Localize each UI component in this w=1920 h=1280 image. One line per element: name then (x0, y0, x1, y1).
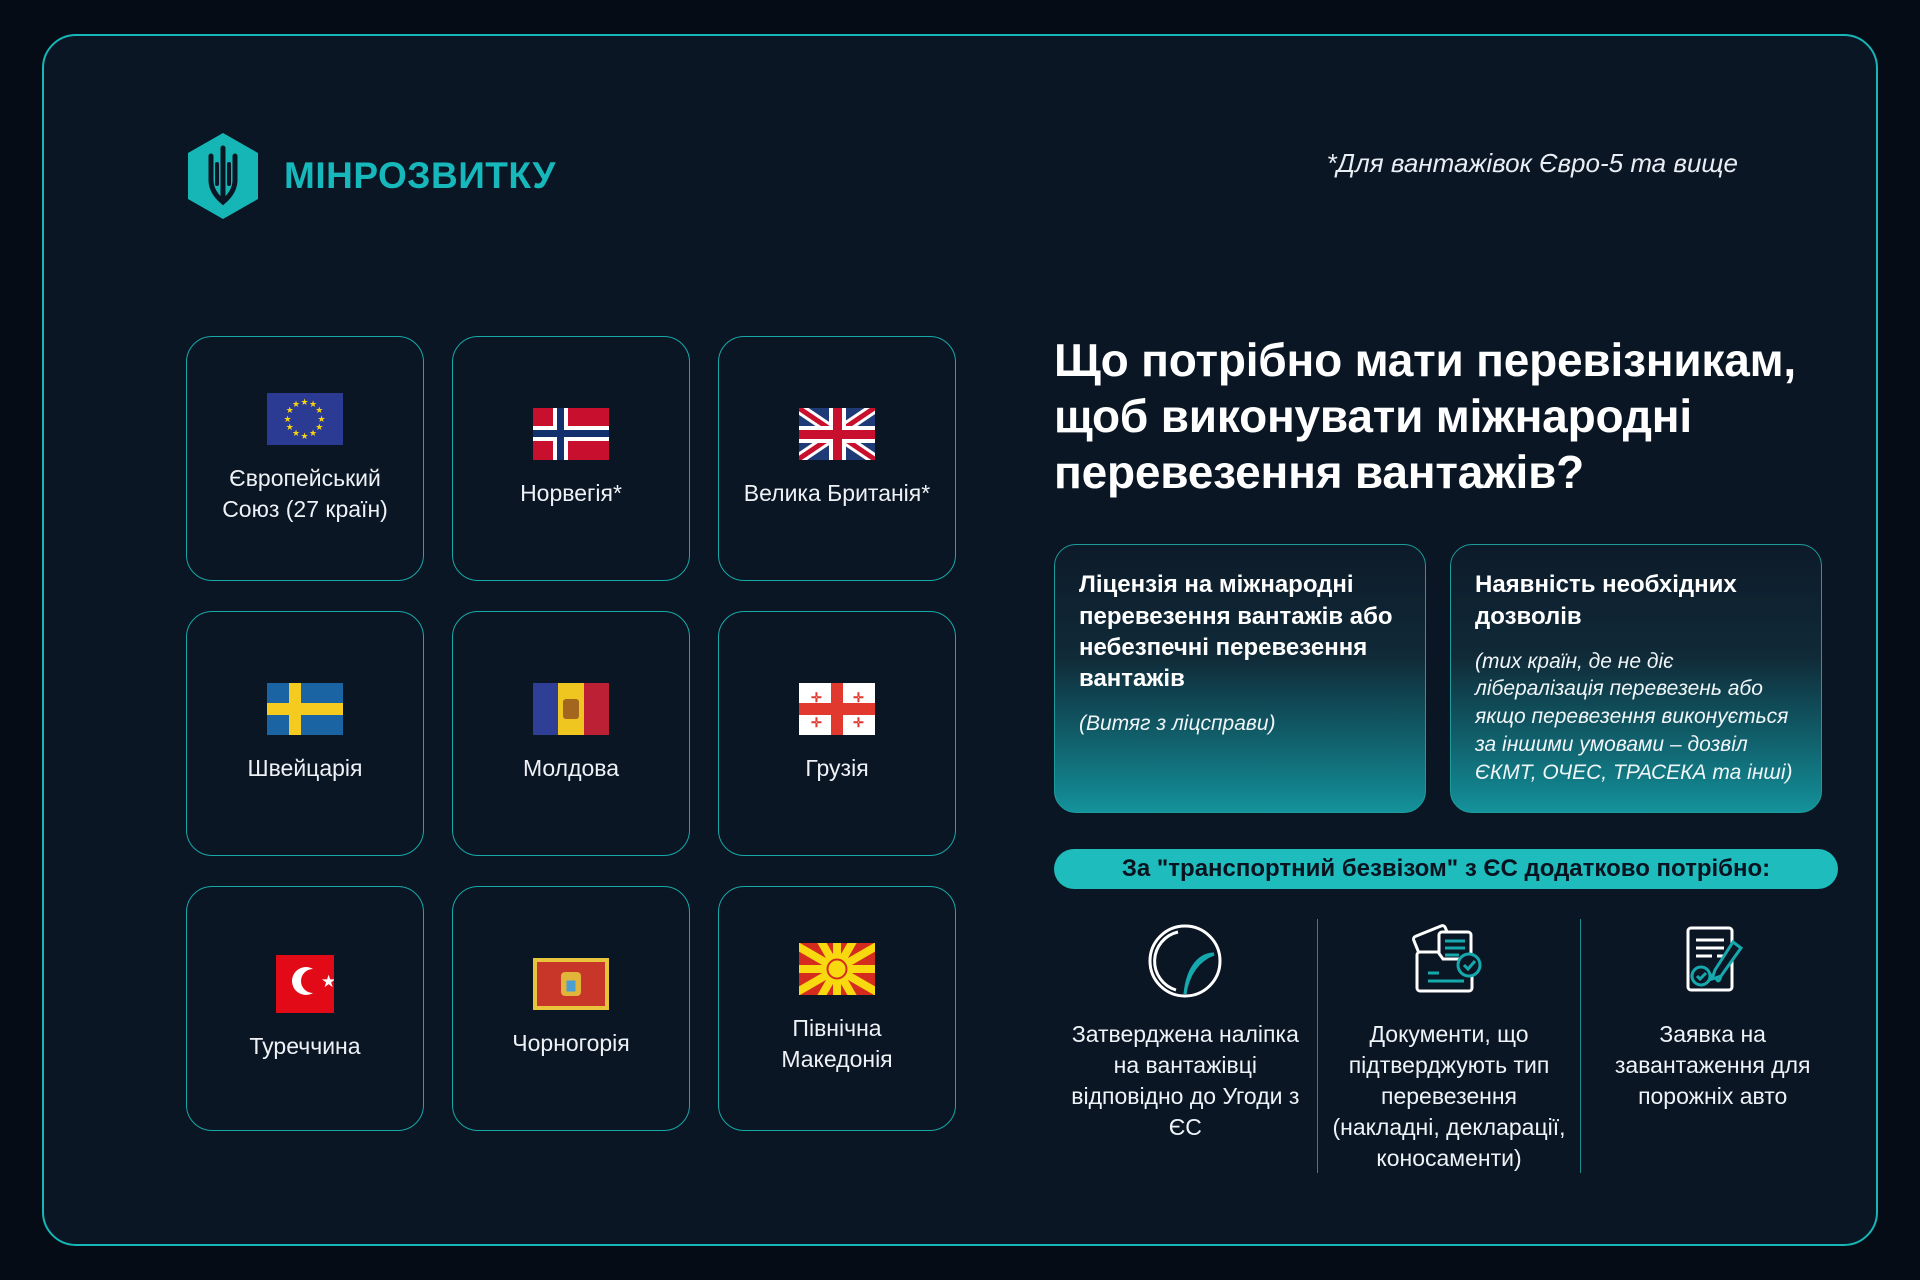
country-label: Чорногорія (512, 1028, 629, 1058)
requirements-row: Ліцензія на міжнародні перевезення ванта… (1054, 544, 1864, 813)
brand-logo: МІНРОЗВИТКУ (184, 132, 556, 220)
country-card[interactable]: Швейцарія (186, 611, 424, 856)
flag-moldova-icon (533, 683, 609, 735)
country-label: Велика Британія* (744, 478, 930, 508)
country-card[interactable]: ★ Туреччина (186, 886, 424, 1131)
visa-free-banner-label: За "транспортний безвізом" з ЄС додатков… (1122, 855, 1770, 883)
country-card[interactable]: Норвегія* (452, 336, 690, 581)
country-label: Норвегія* (520, 478, 622, 508)
country-label: Грузія (805, 753, 868, 783)
requirement-note: (Витяг з ліцсправи) (1079, 710, 1401, 738)
step-item: Заявка на завантаження для порожніх авто (1580, 919, 1844, 1173)
signed-application-pen-icon (1672, 919, 1754, 1003)
requirement-title: Наявність необхідних дозволів (1475, 569, 1797, 631)
country-card[interactable]: Велика Британія* (718, 336, 956, 581)
step-label: Затверджена наліпка на вантажівці відпов… (1068, 1019, 1303, 1142)
flag-sweden-icon (267, 683, 343, 735)
euro5-note: *Для вантажівок Євро-5 та вище (1327, 148, 1738, 179)
flag-turkey-icon: ★ (276, 955, 334, 1013)
country-label: Туреччина (249, 1031, 360, 1061)
flag-north-macedonia-icon (799, 943, 875, 995)
step-label: Заявка на завантаження для порожніх авто (1595, 1019, 1830, 1111)
country-card[interactable]: Північна Македонія (718, 886, 956, 1131)
steps-row: Затверджена наліпка на вантажівці відпов… (1054, 919, 1844, 1173)
requirement-card: Ліцензія на міжнародні перевезення ванта… (1054, 544, 1426, 813)
country-label: Молдова (523, 753, 619, 783)
sticker-label-icon (1144, 919, 1226, 1003)
country-label: Швейцарія (248, 753, 363, 783)
step-item: Документи, що підтверджують тип перевезе… (1317, 919, 1581, 1173)
content-frame: МІНРОЗВИТКУ *Для вантажівок Євро-5 та ви… (42, 34, 1878, 1246)
page-title: Що потрібно мати перевізникам, щоб викон… (1054, 332, 1864, 500)
countries-grid: ★★★★★★★★★★★★ Європейський Союз (27 країн… (186, 336, 956, 1131)
main-column: Що потрібно мати перевізникам, щоб викон… (1054, 332, 1864, 1173)
country-label: Північна Македонія (737, 1013, 937, 1074)
requirement-note: (тих країн, де не діє лібералізація пере… (1475, 648, 1797, 787)
visa-free-banner: За "транспортний безвізом" з ЄС додатков… (1054, 849, 1838, 889)
flag-georgia-icon: ✛ ✛ ✛ ✛ (799, 683, 875, 735)
ukraine-trident-hexagon-icon (184, 132, 262, 220)
country-card[interactable]: ✛ ✛ ✛ ✛ Грузія (718, 611, 956, 856)
flag-montenegro-icon (533, 958, 609, 1010)
requirement-title: Ліцензія на міжнародні перевезення ванта… (1079, 569, 1401, 694)
country-label: Європейський Союз (27 країн) (205, 463, 405, 524)
infographic-root: МІНРОЗВИТКУ *Для вантажівок Євро-5 та ви… (0, 0, 1920, 1280)
step-label: Документи, що підтверджують тип перевезе… (1332, 1019, 1567, 1173)
flag-european-union-icon: ★★★★★★★★★★★★ (267, 393, 343, 445)
requirement-card: Наявність необхідних дозволів (тих країн… (1450, 544, 1822, 813)
country-card[interactable]: Чорногорія (452, 886, 690, 1131)
country-card[interactable]: Молдова (452, 611, 690, 856)
flag-norway-icon (533, 408, 609, 460)
documents-folder-check-icon (1406, 919, 1492, 1003)
country-card[interactable]: ★★★★★★★★★★★★ Європейський Союз (27 країн… (186, 336, 424, 581)
brand-name: МІНРОЗВИТКУ (284, 155, 556, 197)
step-item: Затверджена наліпка на вантажівці відпов… (1054, 919, 1317, 1173)
header: МІНРОЗВИТКУ *Для вантажівок Євро-5 та ви… (144, 104, 1786, 214)
flag-united-kingdom-icon (799, 408, 875, 460)
